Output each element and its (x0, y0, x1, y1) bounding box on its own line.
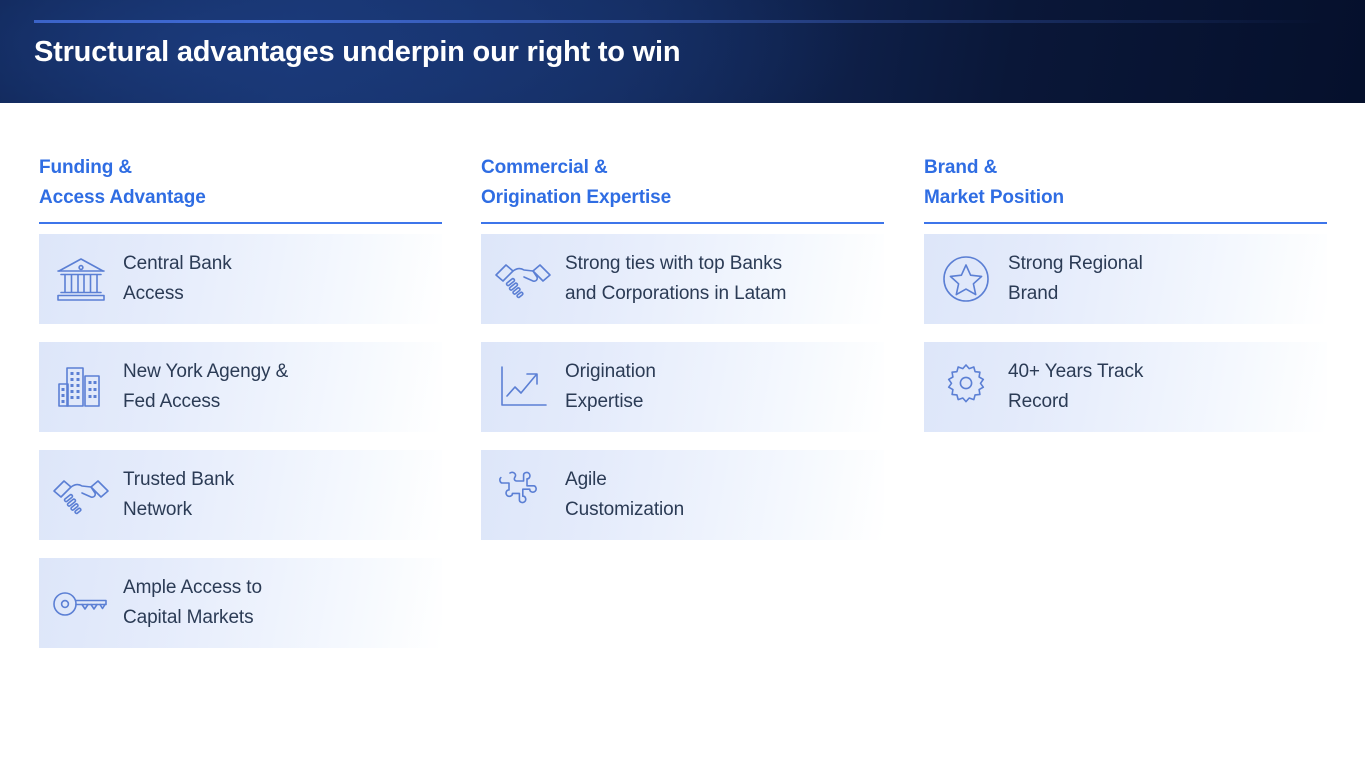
card-label-line2: Brand (1008, 279, 1143, 309)
card-central-bank-access[interactable]: Central Bank Access (39, 234, 442, 324)
card-trusted-bank-network[interactable]: Trusted Bank Network (39, 450, 442, 540)
column-commercial-origination-expertise: Commercial & Origination Expertise (481, 153, 884, 558)
column-brand-market-position: Brand & Market Position Strong Regional … (924, 153, 1327, 450)
card-label: Origination Expertise (565, 357, 664, 417)
card-label: Ample Access to Capital Markets (123, 573, 270, 633)
column-card-list: Strong ties with top Banks and Corporati… (481, 234, 884, 540)
key-icon (39, 558, 123, 648)
card-label-line1: Central Bank (123, 249, 232, 279)
card-origination-expertise[interactable]: Origination Expertise (481, 342, 884, 432)
page-title: Structural advantages underpin our right… (34, 36, 680, 69)
handshake-icon (39, 450, 123, 540)
growth-chart-icon (481, 342, 565, 432)
column-divider (924, 222, 1327, 224)
card-label-line2: Expertise (565, 387, 656, 417)
card-label: Strong Regional Brand (1008, 249, 1151, 309)
star-circle-icon (924, 234, 1008, 324)
card-label-line2: Access (123, 279, 232, 309)
column-funding-access-advantage: Funding & Access Advantage (39, 153, 442, 666)
card-label: Strong ties with top Banks and Corporati… (565, 249, 794, 309)
card-label-line1: Strong Regional (1008, 249, 1143, 279)
column-heading-line1: Brand & (924, 157, 997, 178)
card-label-line1: Agile (565, 465, 684, 495)
card-ample-access-capital-markets[interactable]: Ample Access to Capital Markets (39, 558, 442, 648)
column-heading: Funding & Access Advantage (39, 153, 442, 219)
buildings-icon (39, 342, 123, 432)
card-label: Central Bank Access (123, 249, 240, 309)
card-label-line2: Network (123, 495, 234, 525)
card-label-line1: New York Agengy & (123, 357, 288, 387)
column-divider (481, 222, 884, 224)
card-label: New York Agengy & Fed Access (123, 357, 296, 417)
card-40-years-track-record[interactable]: 40+ Years Track Record (924, 342, 1327, 432)
card-label-line1: Strong ties with top Banks (565, 249, 786, 279)
card-new-york-agency-fed-access[interactable]: New York Agengy & Fed Access (39, 342, 442, 432)
card-label: Trusted Bank Network (123, 465, 242, 525)
card-strong-ties-banks-corporations[interactable]: Strong ties with top Banks and Corporati… (481, 234, 884, 324)
card-strong-regional-brand[interactable]: Strong Regional Brand (924, 234, 1327, 324)
card-agile-customization[interactable]: Agile Customization (481, 450, 884, 540)
card-label-line1: Ample Access to (123, 573, 262, 603)
puzzle-piece-icon (481, 450, 565, 540)
card-label-line2: Record (1008, 387, 1143, 417)
column-divider (39, 222, 442, 224)
column-heading-line2: Access Advantage (39, 183, 442, 213)
card-label-line2: and Corporations in Latam (565, 279, 786, 309)
column-card-list: Central Bank Access (39, 234, 442, 648)
advantages-board: Funding & Access Advantage (0, 103, 1365, 768)
handshake-icon (481, 234, 565, 324)
card-label-line1: 40+ Years Track (1008, 357, 1143, 387)
column-heading: Commercial & Origination Expertise (481, 153, 884, 219)
card-label-line2: Customization (565, 495, 684, 525)
card-label: Agile Customization (565, 465, 692, 525)
bank-icon (39, 234, 123, 324)
gear-icon (924, 342, 1008, 432)
page-header-banner: Structural advantages underpin our right… (0, 0, 1365, 103)
card-label-line2: Capital Markets (123, 603, 262, 633)
column-heading-line1: Funding & (39, 157, 132, 178)
column-card-list: Strong Regional Brand 40+ Years Track Re… (924, 234, 1327, 432)
column-heading-line2: Origination Expertise (481, 183, 884, 213)
card-label-line2: Fed Access (123, 387, 288, 417)
column-heading-line2: Market Position (924, 183, 1327, 213)
column-heading-line1: Commercial & (481, 157, 608, 178)
card-label-line1: Origination (565, 357, 656, 387)
header-accent-line (34, 20, 1324, 23)
card-label-line1: Trusted Bank (123, 465, 234, 495)
column-heading: Brand & Market Position (924, 153, 1327, 219)
card-label: 40+ Years Track Record (1008, 357, 1151, 417)
